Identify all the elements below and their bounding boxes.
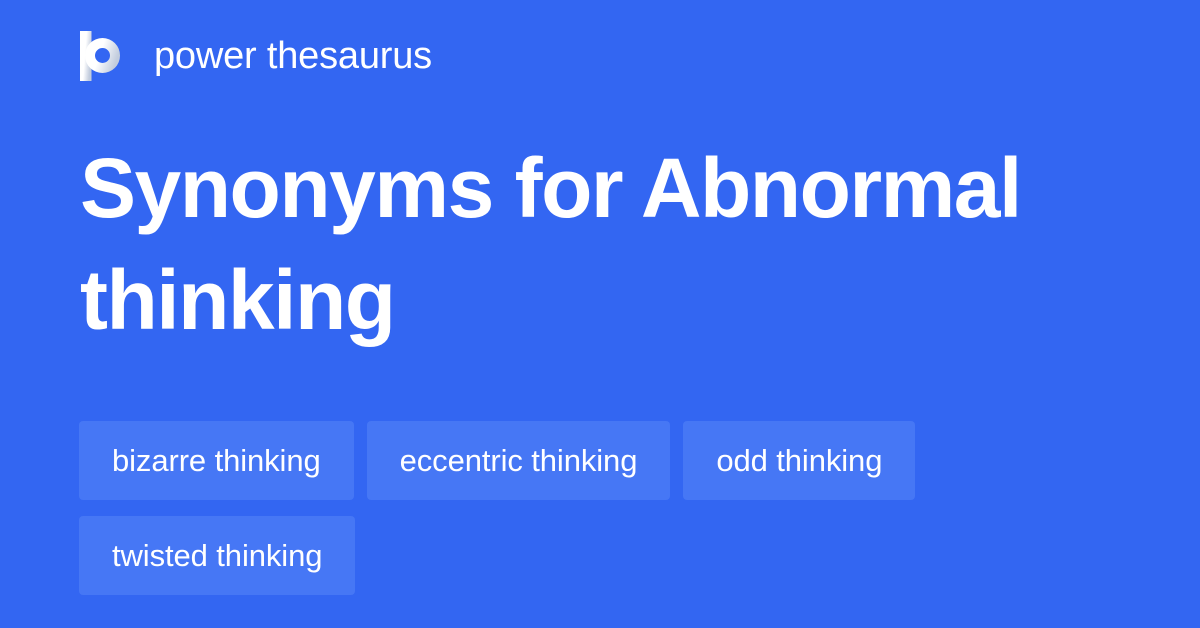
synonym-chip[interactable]: twisted thinking [79,516,355,595]
synonym-chip[interactable]: odd thinking [683,421,915,500]
open-graph-card: power thesaurus Synonyms for Abnormal th… [0,0,1200,628]
page-title: Synonyms for Abnormal thinking [80,132,1080,356]
power-thesaurus-b-logo-icon [80,31,128,81]
synonym-chip-list: bizarre thinking eccentric thinking odd … [79,421,1129,595]
brand-header[interactable]: power thesaurus [80,28,432,84]
brand-name: power thesaurus [154,34,432,78]
synonym-chip[interactable]: eccentric thinking [367,421,671,500]
synonym-chip[interactable]: bizarre thinking [79,421,354,500]
